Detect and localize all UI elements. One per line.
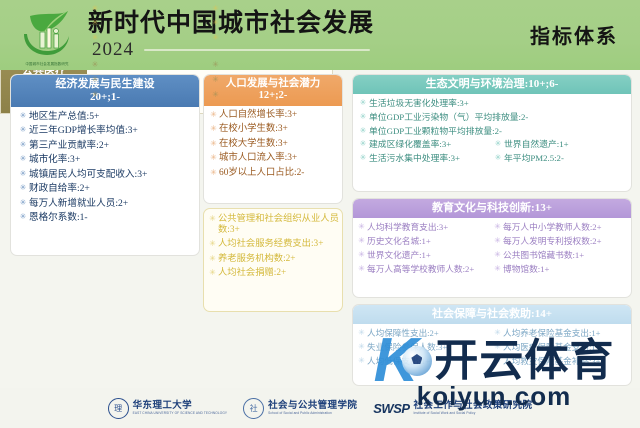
list-item: ✳每万人中小学教师人数:2+	[492, 222, 628, 232]
panel-economy-list: ✳地区生产总值:5+ ✳近三年GDP增长率均值:3+ ✳第三产业贡献率:2+ ✳…	[11, 107, 199, 229]
bullet-icon: ✳	[207, 239, 218, 248]
footer-logo-en: Institute of Social Work and Social Poli…	[414, 412, 533, 416]
panel-economy-header: 经济发展与民生建设 20+;1-	[11, 75, 199, 107]
list-item: ✳人均社会捐赠:2+	[207, 268, 339, 279]
list-item: ✳每万人新增就业人员:2+	[17, 198, 197, 209]
bullet-icon: ✳	[89, 33, 101, 42]
item-label: 世界自然遗产:1+	[504, 139, 627, 149]
item-label: 城市人口流入率:3+	[219, 153, 340, 164]
header-title-block: 新时代中国城市社会发展 2024	[88, 9, 374, 61]
bullet-icon: ✳	[89, 75, 101, 84]
item-label: 人均低保支出:1+	[367, 356, 492, 366]
item-label: 60岁以上人口占比:2-	[219, 168, 340, 179]
page-footer: 理 华东理工大学 EAST CHINA UNIVERSITY OF SCIENC…	[0, 388, 640, 428]
bullet-icon: ✳	[17, 154, 29, 163]
bullet-icon: ✳	[492, 356, 503, 365]
panel-education-body: ✳人均科学教育支出:3+ ✳历史文化名城:1+ ✳世界文化遗产:1+ ✳每万人高…	[353, 218, 631, 279]
list-item: ✳世界自然遗产:1+	[492, 139, 627, 149]
leaf-city-logo-icon	[18, 8, 74, 58]
list-item: ✳城市化率:3+	[17, 154, 197, 165]
bullet-icon: ✳	[208, 168, 219, 177]
item-label: 地区生产总值:5+	[29, 111, 197, 122]
list-item: ✳人均救灾保险基金补贴:3+	[492, 356, 628, 366]
footer-logo-text: 华东理工大学 EAST CHINA UNIVERSITY OF SCIENCE …	[133, 401, 228, 415]
item-label: 恩格尔系数:1-	[29, 212, 197, 223]
bullet-icon: ✳	[17, 183, 29, 192]
list-item: ✳失业保险参保人数:3+	[356, 342, 492, 352]
list-item: ✳生活污水集中处理率:3+	[357, 153, 492, 163]
item-label: 在校小学生数:3+	[219, 124, 340, 135]
panel-ecology-split: ✳建成区绿化覆盖率:3+ ✳生活污水集中处理率:3+ ✳世界自然遗产:1+ ✳年…	[357, 139, 627, 167]
footer-logo-text: 社会与公共管理学院 School of Social and Public Ad…	[268, 401, 357, 415]
bullet-icon: ✳	[207, 254, 218, 263]
year-row: 2024	[88, 39, 374, 61]
university-seal-icon: 理	[108, 398, 129, 419]
organization-logo: 中国城市社会发展指数研究	[8, 2, 86, 68]
list-item: ✳城镇居民人均可支配收入:3+	[17, 169, 197, 180]
bullet-icon: ✳	[357, 139, 369, 148]
bullet-icon: ✳	[492, 328, 503, 337]
footer-logo-cn: 社会工作与社会政策研究院	[414, 401, 533, 412]
column-right: ✳人均养老保险基金支出:1+ ✳人均医疗保险基金支出:1+ ✳人均救灾保险基金补…	[492, 328, 628, 370]
bullet-icon: ✳	[208, 110, 219, 119]
item-label: 人均科学教育支出:3+	[367, 222, 492, 232]
list-item: ✳世界文化遗产:1+	[356, 250, 492, 260]
bullet-icon: ✳	[492, 222, 503, 231]
list-item: ✳人均保障性支出:2+	[356, 328, 492, 338]
bullet-icon: ✳	[89, 90, 101, 99]
item-label: 生活垃圾无害化处理率:3+	[369, 98, 627, 108]
panel-economy-count: 20+;1-	[13, 91, 197, 104]
footer-logo-school: 社 社会与公共管理学院 School of Social and Public …	[243, 398, 357, 419]
list-item: ✳人口自然增长率:3+	[208, 110, 340, 121]
item-label: 财政自给率:2+	[29, 183, 197, 194]
panel-population: 人口发展与社会潜力 12+;2- ✳人口自然增长率:3+ ✳在校小学生数:3+ …	[203, 74, 343, 204]
list-item: ✳在校大学生数:3+	[208, 139, 340, 150]
bullet-icon: ✳	[208, 139, 219, 148]
list-item: ✳第三产业贡献率:2+	[17, 140, 197, 151]
footer-logo-text: 社会工作与社会政策研究院 Institute of Social Work an…	[414, 401, 533, 415]
panel-population-count: 12+;2-	[206, 90, 340, 102]
bullet-icon: ✳	[207, 268, 218, 277]
bullet-icon: ✳	[17, 212, 29, 221]
item-label: 每万人高等学校教师人数:2+	[367, 264, 492, 274]
bullet-icon: ✳	[210, 33, 222, 42]
list-item: ✳人均医疗保险基金支出:1+	[492, 342, 628, 352]
list-item: ✳博物馆数:1+	[492, 264, 628, 274]
page-title: 新时代中国城市社会发展	[88, 9, 374, 39]
bullet-icon: ✳	[210, 4, 222, 13]
footer-logo-en: School of Social and Public Administrati…	[268, 412, 357, 416]
list-item: ✳每万人高等学校教师人数:2+	[356, 264, 492, 274]
list-item: ✳养老服务机构数:2+	[207, 254, 339, 265]
list-item: ✳财政自给率:2+	[17, 183, 197, 194]
bullet-icon: ✳	[492, 264, 503, 273]
item-label: 失业保险参保人数:3+	[367, 342, 492, 352]
panel-education: 教育文化与科技创新:13+ ✳人均科学教育支出:3+ ✳历史文化名城:1+ ✳世…	[352, 198, 632, 298]
list-item: ✳人均低保支出:1+	[356, 356, 492, 366]
item-label: 第三产业贡献率:2+	[29, 140, 197, 151]
bullet-icon: ✳	[356, 356, 367, 365]
item-label: 历史文化名城:1+	[367, 236, 492, 246]
list-item: ✳地区生产总值:5+	[17, 111, 197, 122]
panel-population-list: ✳人口自然增长率:3+ ✳在校小学生数:3+ ✳在校大学生数:3+ ✳城市人口流…	[204, 106, 342, 184]
column-right: ✳每万人中小学教师人数:2+ ✳每万人发明专利授权数:2+ ✳公共图书馆藏书数:…	[492, 222, 628, 277]
list-item: ✳近三年GDP增长率均值:3+	[17, 125, 197, 136]
panel-population-header: 人口发展与社会潜力 12+;2-	[204, 75, 342, 106]
list-item: ✳单位GDP工业污染物（气）平均排放量:2-	[357, 112, 627, 122]
list-item: ✳建成区绿化覆盖率:3+	[357, 139, 492, 149]
item-label: 人均保障性支出:2+	[367, 328, 492, 338]
bullet-icon: ✳	[210, 60, 222, 69]
bullet-icon: ✳	[89, 4, 101, 13]
panel-ecology-header: 生态文明与环境治理:10+;6-	[353, 75, 631, 94]
bullet-icon: ✳	[492, 139, 504, 148]
item-label: 每万人中小学教师人数:2+	[503, 222, 628, 232]
bullet-icon: ✳	[208, 153, 219, 162]
item-label: 博物馆数:1+	[503, 264, 628, 274]
item-label: 人均救灾保险基金补贴:3+	[503, 356, 628, 366]
bullet-icon: ✳	[208, 124, 219, 133]
infographic-page: 中国城市社会发展指数研究 新时代中国城市社会发展 2024 指标体系 经济发展与…	[0, 0, 640, 428]
list-item: ✳历史文化名城:1+	[356, 236, 492, 246]
panel-ecology-body: ✳生活垃圾无害化处理率:3+ ✳单位GDP工业污染物（气）平均排放量:2- ✳单…	[353, 94, 631, 169]
swsp-wordmark-icon: SWSP	[373, 401, 409, 416]
year-divider	[144, 49, 370, 51]
logo-caption: 中国城市社会发展指数研究	[10, 61, 84, 66]
panel-social-security: 社会保障与社会救助:14+ ✳人均保障性支出:2+ ✳失业保险参保人数:3+ ✳…	[352, 304, 632, 386]
footer-logo-cn: 华东理工大学	[133, 401, 228, 412]
item-label: 世界文化遗产:1+	[367, 250, 492, 260]
bullet-icon: ✳	[17, 125, 29, 134]
list-item: ✳公共管理和社会组织从业人员数:3+	[207, 214, 339, 236]
panel-public-administration-list: ✳公共管理和社会组织从业人员数:3+ ✳人均社会服务经费支出:3+ ✳养老服务机…	[204, 209, 342, 284]
item-label: 在校大学生数:3+	[219, 139, 340, 150]
column-left: ✳建成区绿化覆盖率:3+ ✳生活污水集中处理率:3+	[357, 139, 492, 167]
panel-ecology: 生态文明与环境治理:10+;6- ✳生活垃圾无害化处理率:3+ ✳单位GDP工业…	[352, 74, 632, 192]
item-label: 年平均PM2.5:2-	[504, 153, 627, 163]
bullet-icon: ✳	[89, 60, 101, 69]
bullet-icon: ✳	[356, 222, 367, 231]
bullet-icon: ✳	[210, 18, 222, 27]
bullet-icon: ✳	[356, 264, 367, 273]
list-item: ✳单位GDP工业颗粒物平均排放量:2-	[357, 126, 627, 136]
item-label: 公共管理和社会组织从业人员数:3+	[218, 214, 339, 236]
list-item: ✳人均科学教育支出:3+	[356, 222, 492, 232]
bullet-icon: ✳	[17, 198, 29, 207]
bullet-icon: ✳	[357, 153, 369, 162]
footer-logo-en: EAST CHINA UNIVERSITY OF SCIENCE AND TEC…	[133, 412, 228, 416]
list-item: ✳公共图书馆藏书数:1+	[492, 250, 628, 260]
footer-logo-cn: 社会与公共管理学院	[268, 401, 357, 412]
list-item: ✳60岁以上人口占比:2-	[208, 168, 340, 179]
panel-social-security-body: ✳人均保障性支出:2+ ✳失业保险参保人数:3+ ✳人均低保支出:1+ ✳人均养…	[353, 324, 631, 372]
bullet-icon: ✳	[357, 98, 369, 107]
bullet-icon: ✳	[17, 140, 29, 149]
item-label: 每万人发明专利授权数:2+	[503, 236, 628, 246]
list-item: ✳恩格尔系数:1-	[17, 212, 197, 223]
list-item: ✳人均社会服务经费支出:3+	[207, 239, 339, 250]
bullet-icon: ✳	[492, 153, 504, 162]
panel-economy: 经济发展与民生建设 20+;1- ✳地区生产总值:5+ ✳近三年GDP增长率均值…	[10, 74, 200, 256]
list-item: ✳生活垃圾无害化处理率:3+	[357, 98, 627, 108]
bullet-icon: ✳	[17, 111, 29, 120]
item-label: 城镇居民人均可支配收入:3+	[29, 169, 197, 180]
bullet-icon: ✳	[356, 328, 367, 337]
bullet-icon: ✳	[207, 214, 218, 223]
list-item: ✳人均养老保险基金支出:1+	[492, 328, 628, 338]
item-label: 人均社会捐赠:2+	[218, 268, 339, 279]
footer-logo-ecust: 理 华东理工大学 EAST CHINA UNIVERSITY OF SCIENC…	[108, 398, 228, 419]
column-left: ✳人均保障性支出:2+ ✳失业保险参保人数:3+ ✳人均低保支出:1+	[356, 328, 492, 370]
footer-logo-swsp: SWSP 社会工作与社会政策研究院 Institute of Social Wo…	[373, 401, 532, 416]
item-label: 城市化率:3+	[29, 154, 197, 165]
item-label: 建成区绿化覆盖率:3+	[369, 139, 492, 149]
bullet-icon: ✳	[492, 342, 503, 351]
bullet-icon: ✳	[356, 250, 367, 259]
item-label: 单位GDP工业污染物（气）平均排放量:2-	[369, 112, 627, 122]
bullet-icon: ✳	[357, 112, 369, 121]
list-item: ✳城市人口流入率:3+	[208, 153, 340, 164]
list-item: ✳在校小学生数:3+	[208, 124, 340, 135]
list-item: ✳每万人发明专利授权数:2+	[492, 236, 628, 246]
panel-social-security-header: 社会保障与社会救助:14+	[353, 305, 631, 324]
item-label: 人口自然增长率:3+	[219, 110, 340, 121]
item-label: 养老服务机构数:2+	[218, 254, 339, 265]
panel-economy-title: 经济发展与民生建设	[13, 78, 197, 91]
bullet-icon: ✳	[356, 342, 367, 351]
bullet-icon: ✳	[492, 250, 503, 259]
column-left: ✳人均科学教育支出:3+ ✳历史文化名城:1+ ✳世界文化遗产:1+ ✳每万人高…	[356, 222, 492, 277]
school-seal-icon: 社	[243, 398, 264, 419]
bullet-icon: ✳	[17, 169, 29, 178]
item-label: 每万人新增就业人员:2+	[29, 198, 197, 209]
bullet-icon: ✳	[89, 18, 101, 27]
bullet-icon: ✳	[210, 90, 222, 99]
item-label: 人均社会服务经费支出:3+	[218, 239, 339, 250]
item-label: 人均医疗保险基金支出:1+	[503, 342, 628, 352]
list-item: ✳年平均PM2.5:2-	[492, 153, 627, 163]
item-label: 人均养老保险基金支出:1+	[503, 328, 628, 338]
bullet-icon: ✳	[492, 236, 503, 245]
item-label: 生活污水集中处理率:3+	[369, 153, 492, 163]
panel-population-title: 人口发展与社会潜力	[206, 78, 340, 90]
bullet-icon: ✳	[357, 126, 369, 135]
column-right: ✳世界自然遗产:1+ ✳年平均PM2.5:2-	[492, 139, 627, 167]
bullet-icon: ✳	[356, 236, 367, 245]
item-label: 近三年GDP增长率均值:3+	[29, 125, 197, 136]
panel-education-header: 教育文化与科技创新:13+	[353, 199, 631, 218]
panel-public-administration: ✳公共管理和社会组织从业人员数:3+ ✳人均社会服务经费支出:3+ ✳养老服务机…	[203, 208, 343, 312]
item-label: 单位GDP工业颗粒物平均排放量:2-	[369, 126, 627, 136]
page-subtitle: 指标体系	[530, 20, 618, 49]
item-label: 公共图书馆藏书数:1+	[503, 250, 628, 260]
bullet-icon: ✳	[210, 75, 222, 84]
